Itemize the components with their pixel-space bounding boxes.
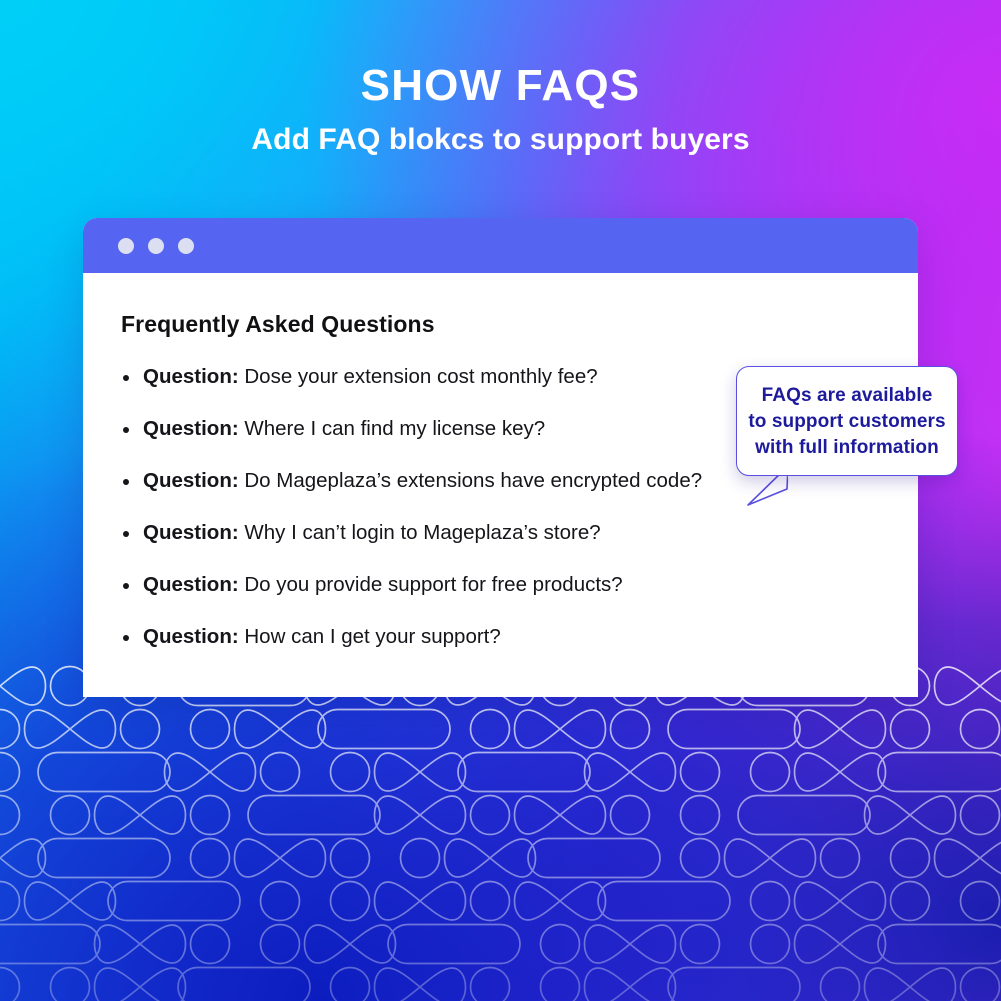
list-item[interactable]: Question: Why I can’t login to Mageplaza… (121, 523, 878, 544)
callout-line-2: to support customers (747, 409, 947, 435)
faq-question-text: Where I can find my license key? (244, 417, 545, 440)
poster-canvas: SHOW FAQS Add FAQ blokcs to support buye… (0, 0, 1001, 1001)
faq-question-label: Question: (143, 469, 239, 492)
faq-question-text: How can I get your support? (244, 625, 500, 648)
page-title: SHOW FAQS (0, 0, 1001, 109)
faq-question-label: Question: (143, 417, 239, 440)
faq-question-label: Question: (143, 521, 239, 544)
faq-question-label: Question: (143, 573, 239, 596)
callout-line-1: FAQs are available (747, 383, 947, 409)
window-dot-minimize-icon[interactable] (148, 238, 164, 254)
page-subtitle: Add FAQ blokcs to support buyers (0, 109, 1001, 157)
faq-question-text: Dose your extension cost monthly fee? (244, 365, 597, 388)
callout-tooltip: FAQs are available to support customers … (736, 366, 958, 476)
faq-section-heading: Frequently Asked Questions (121, 311, 878, 338)
window-dot-maximize-icon[interactable] (178, 238, 194, 254)
faq-question-label: Question: (143, 625, 239, 648)
decorative-loop-pattern (0, 665, 1001, 1001)
faq-question-text: Do Mageplaza’s extensions have encrypted… (244, 469, 702, 492)
list-item[interactable]: Question: How can I get your support? (121, 627, 878, 648)
list-item[interactable]: Question: Do you provide support for fre… (121, 575, 878, 596)
faq-question-label: Question: (143, 365, 239, 388)
callout-line-3: with full information (747, 435, 947, 461)
poster-header: SHOW FAQS Add FAQ blokcs to support buye… (0, 0, 1001, 157)
faq-question-text: Do you provide support for free products… (244, 573, 622, 596)
window-dot-close-icon[interactable] (118, 238, 134, 254)
browser-titlebar (83, 218, 918, 273)
faq-question-text: Why I can’t login to Mageplaza’s store? (244, 521, 600, 544)
